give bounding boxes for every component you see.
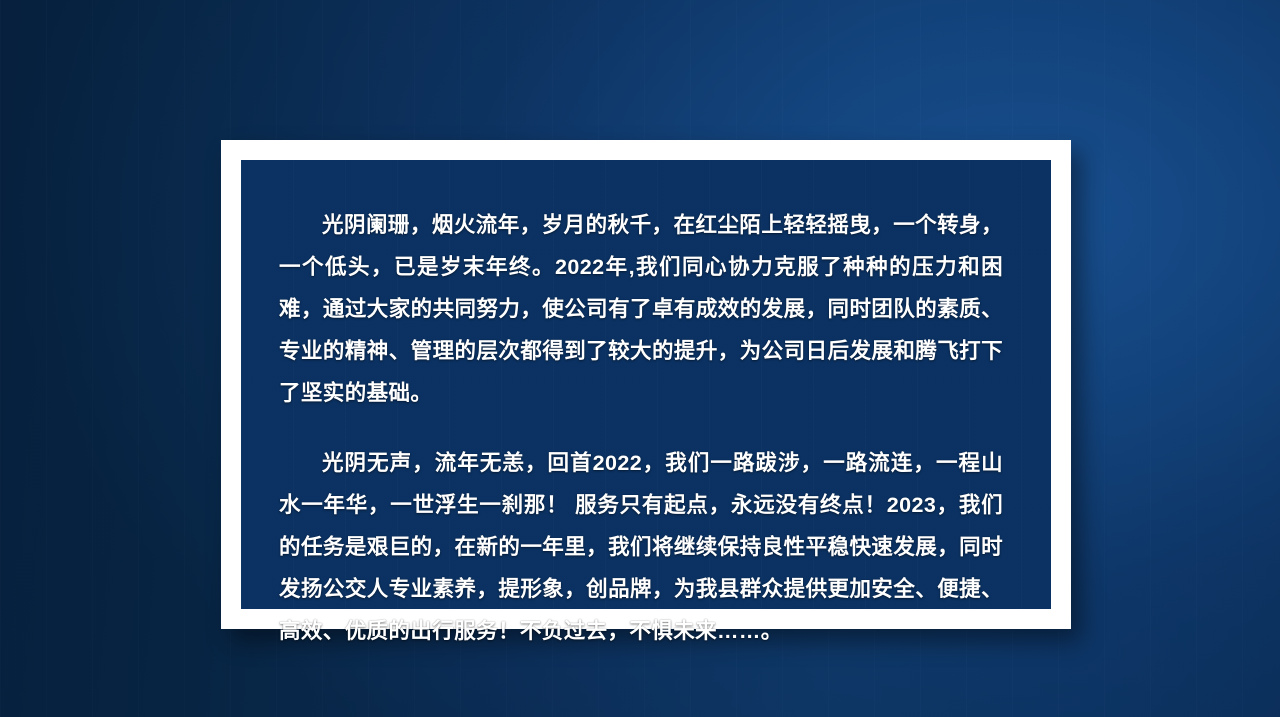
presentation-slide: 光阴阑珊，烟火流年，岁月的秋千，在红尘陌上轻轻摇曳，一个转身，一个低头，已是岁末…: [0, 0, 1280, 717]
paragraph-2: 光阴无声，流年无恙，回首2022，我们一路跋涉，一路流连，一程山水一年华，一世浮…: [279, 442, 1003, 652]
body-copy: 光阴阑珊，烟火流年，岁月的秋千，在红尘陌上轻轻摇曳，一个转身，一个低头，已是岁末…: [259, 204, 1017, 652]
paragraph-1: 光阴阑珊，烟火流年，岁月的秋千，在红尘陌上轻轻摇曳，一个转身，一个低头，已是岁末…: [279, 204, 1003, 414]
card-inner-panel: 光阴阑珊，烟火流年，岁月的秋千，在红尘陌上轻轻摇曳，一个转身，一个低头，已是岁末…: [241, 160, 1051, 609]
framed-text-card: 光阴阑珊，烟火流年，岁月的秋千，在红尘陌上轻轻摇曳，一个转身，一个低头，已是岁末…: [221, 140, 1071, 629]
